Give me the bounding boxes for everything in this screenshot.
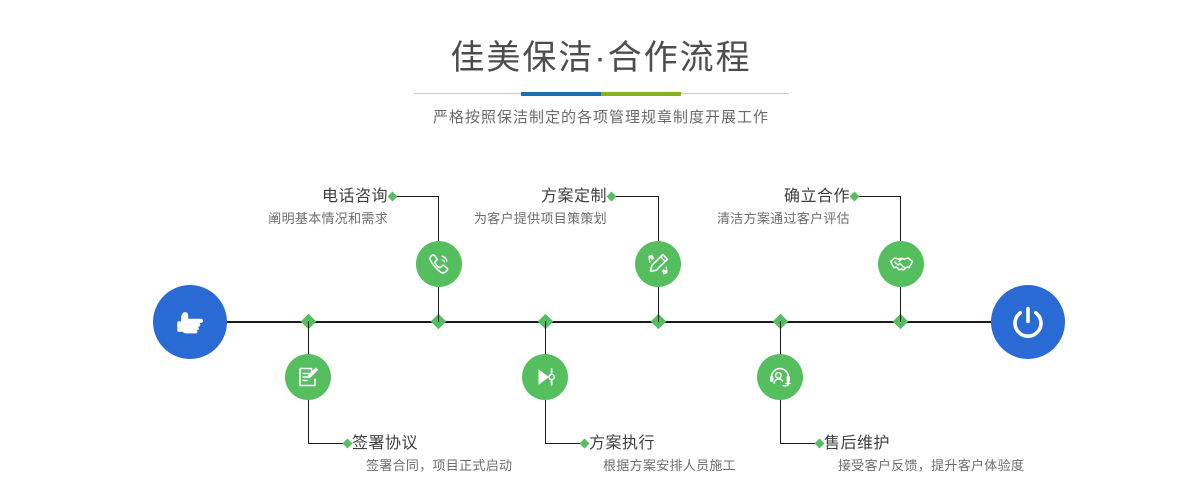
process-flow-timeline: 电话咨询 阐明基本情况和需求 签署协议 签署合同，项目正式启动 <box>0 0 1202 502</box>
phone-call-icon <box>426 251 452 277</box>
flow-node-1 <box>416 241 462 287</box>
label-step-3-desc: 为客户提供项目策策划 <box>370 208 607 230</box>
label-step-6-title: 售后维护 <box>824 433 1124 455</box>
label-step-1-desc: 阐明基本情况和需求 <box>148 208 388 230</box>
label-step-1-title: 电话咨询 <box>148 186 388 208</box>
flow-node-6 <box>757 354 803 400</box>
headset-support-icon <box>767 364 793 390</box>
label-step-3: 方案定制 为客户提供项目策策划 <box>370 186 607 230</box>
tip-step-5 <box>850 192 860 202</box>
flow-node-2 <box>285 354 331 400</box>
power-icon <box>1007 301 1049 343</box>
tip-step-2 <box>343 439 353 449</box>
pencil-ruler-icon <box>645 251 671 277</box>
label-step-3-title: 方案定制 <box>370 186 607 208</box>
handshake-icon <box>888 251 915 278</box>
label-step-6: 售后维护 接受客户反馈，提升客户体验度 <box>824 433 1124 477</box>
label-step-5-desc: 清洁方案通过客户评估 <box>610 208 850 230</box>
label-step-5: 确立合作 清洁方案通过客户评估 <box>610 186 850 230</box>
pointing-hand-icon <box>170 302 210 342</box>
label-step-6-desc: 接受客户反馈，提升客户体验度 <box>838 455 1124 477</box>
flow-node-5 <box>878 241 924 287</box>
document-edit-icon <box>295 364 321 390</box>
flow-node-3 <box>635 241 681 287</box>
flow-start-node <box>153 285 227 359</box>
flow-node-4 <box>522 354 568 400</box>
label-step-5-title: 确立合作 <box>610 186 850 208</box>
play-execute-icon <box>532 364 558 390</box>
label-step-1: 电话咨询 阐明基本情况和需求 <box>148 186 388 230</box>
arm-step-5 <box>855 196 901 197</box>
flow-end-node <box>991 285 1065 359</box>
